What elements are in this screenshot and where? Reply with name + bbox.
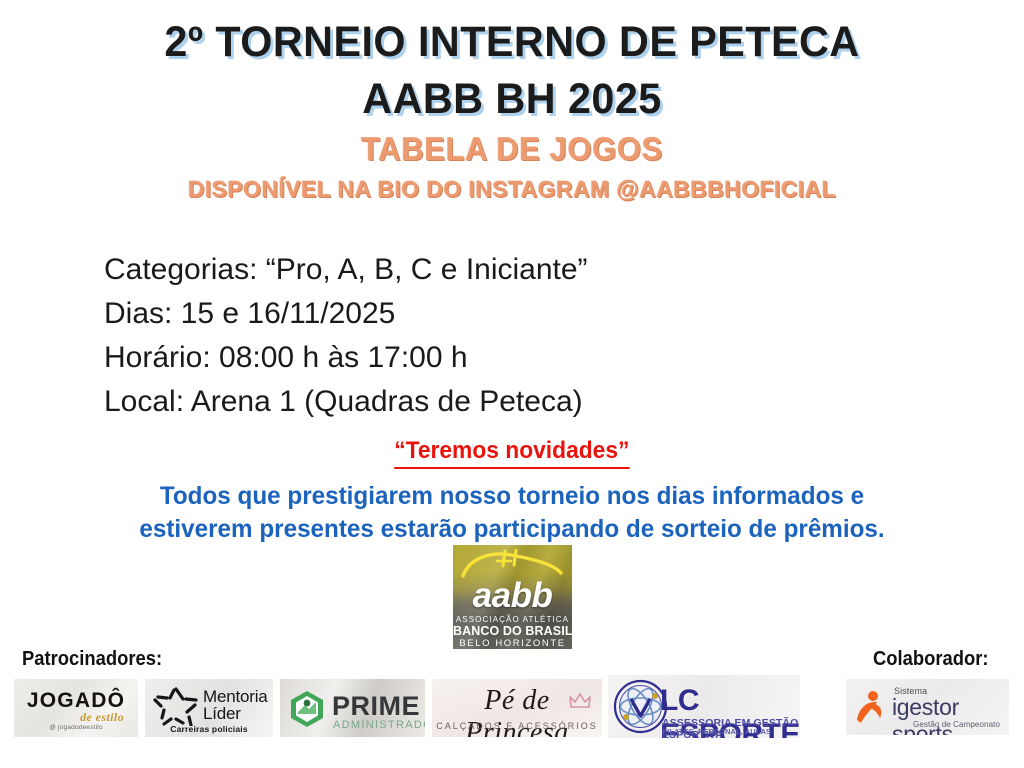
lc-esportes-tagline-2: PILATES, PERSONAL, AULAS ESPORTIVAS E DA… [662, 727, 800, 738]
teremos-novidades-text: “Teremos novidades” [394, 436, 629, 469]
aabb-line-associacao: ASSOCIAÇÃO ATLÉTICA [453, 615, 572, 624]
promo-line-2: estiverem presentes estarão participando… [15, 513, 1008, 546]
princesa-tagline: CALÇADOS E ACESSÓRIOS [432, 721, 602, 731]
aabb-line-banco-do-brasil: BANCO DO BRASIL [453, 624, 572, 638]
highlight-row: “Teremos novidades” [0, 436, 1024, 469]
sponsor-logo-prime-administradora: PRIME ADMINISTRADORA [280, 679, 425, 737]
event-details-list: Categorias: “Pro, A, B, C e Iniciante” D… [104, 248, 804, 424]
aabb-line-belo-horizonte: BELO HORIZONTE [453, 638, 572, 649]
hexagon-icon [288, 690, 326, 728]
crown-icon [569, 693, 591, 709]
promo-line-1: Todos que prestigiarem nosso torneio nos… [15, 480, 1008, 513]
mentoria-tagline: Carreiras policiais [145, 724, 273, 734]
detail-local: Local: Arena 1 (Quadras de Peteca) [104, 380, 804, 424]
mentoria-word-2: Líder [203, 704, 241, 724]
promo-block: “Teremos novidades” Todos que prestigiar… [0, 436, 1024, 546]
poster-canvas: 2º TORNEIO INTERNO DE PETECA AABB BH 202… [0, 0, 1024, 768]
running-figure-icon [855, 690, 885, 724]
sponsor-logo-lc-esportes: LC ESPORTES ASSESSORIA EM GESTÃO ESPORTI… [608, 675, 800, 738]
jogado-instagram-handle: @ jogadodeestilo [14, 724, 138, 731]
page-title-line-1: 2º TORNEIO INTERNO DE PETECA [20, 14, 1003, 71]
sponsor-logo-jogado: JOGADÔ de estilo @ jogadodeestilo [14, 679, 138, 737]
collaborator-logo-igestor-sports: Sistema igestor sports Gestão de Campeon… [846, 679, 1009, 735]
detail-dias: Dias: 15 e 16/11/2025 [104, 292, 804, 336]
sponsor-logo-mentoria-lider: Mentoria Líder Carreiras policiais [145, 679, 273, 737]
prime-wordmark: PRIME [332, 691, 420, 722]
detail-categorias: Categorias: “Pro, A, B, C e Iniciante” [104, 248, 804, 292]
detail-horario: Horário: 08:00 h às 17:00 h [104, 336, 804, 380]
star-icon [153, 686, 199, 726]
sponsor-logo-pe-de-princesa: Pé de Princesa CALÇADOS E ACESSÓRIOS [432, 679, 602, 737]
aabb-logo: aabb ASSOCIAÇÃO ATLÉTICA BANCO DO BRASIL… [453, 545, 572, 649]
jogado-script-tagline: de estilo [14, 710, 138, 725]
poster-subtitle: TABELA DE JOGOS [15, 128, 1008, 170]
colaborador-label: Colaborador: [873, 647, 989, 671]
instagram-availability-line: DISPONÍVEL NA BIO DO INSTAGRAM @AABBBHOF… [0, 174, 1024, 205]
poster-header: 2º TORNEIO INTERNO DE PETECA AABB BH 202… [0, 14, 1024, 205]
prime-tagline: ADMINISTRADORA [333, 719, 425, 731]
patrocinadores-label: Patrocinadores: [22, 647, 162, 671]
page-title-line-2: AABB BH 2025 [20, 71, 1003, 128]
igestor-tagline: Gestão de Campeonato [846, 720, 1009, 729]
aabb-wordmark: aabb [453, 578, 572, 614]
